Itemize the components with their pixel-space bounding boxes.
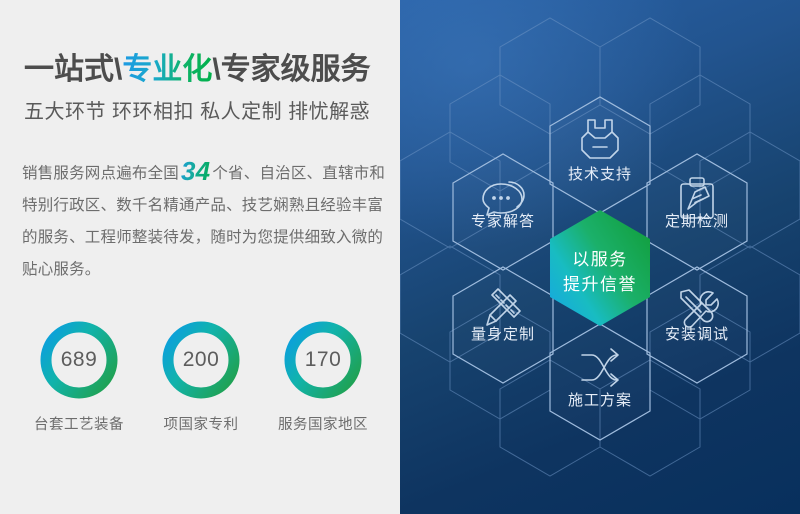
stat-item: 170 服务国家地区	[262, 318, 384, 434]
stat-label: 项国家专利	[164, 413, 239, 434]
paragraph-text-before: 销售服务网点遍布全国	[22, 165, 179, 182]
stats-row: 689 台套工艺装备	[18, 318, 388, 434]
center-text-line-2: 提升信誉	[563, 272, 637, 297]
headline-part-2: 专家级服务	[221, 53, 371, 86]
paragraph-highlight-number: 34	[179, 156, 212, 186]
stat-label: 台套工艺装备	[34, 413, 124, 434]
headline-highlight: 专业化	[122, 53, 212, 86]
stat-value: 200	[159, 318, 243, 402]
donut-ring: 170	[281, 318, 365, 402]
donut-ring: 200	[159, 318, 243, 402]
description-paragraph: 销售服务网点遍布全国34个省、自治区、直辖市和特别行政区、数千名精通产品、技艺娴…	[22, 155, 388, 286]
page-title: 一站式\专业化\专家级服务	[24, 55, 384, 85]
hexagon-label-technical-support[interactable]: 技术支持	[568, 163, 632, 184]
hexagon-label-regular-inspection[interactable]: 定期检测	[665, 210, 729, 231]
stat-value: 689	[37, 318, 121, 402]
headline-part-1: 一站式	[24, 53, 114, 86]
stat-value: 170	[281, 318, 365, 402]
hexagon-label-construction-plan[interactable]: 施工方案	[568, 389, 632, 410]
hexagon-diagram-panel: 技术支持 专家解答 定期检测 量身定制 安装调试 施工方案 以服务 提升信誉	[400, 0, 800, 514]
stat-item: 689 台套工艺装备	[18, 318, 140, 434]
headline-separator-2: \	[212, 53, 220, 86]
hexagon-label-custom-tailoring[interactable]: 量身定制	[471, 323, 535, 344]
page-subtitle: 五大环节 环环相扣 私人定制 排忧解惑	[24, 100, 394, 124]
hexagon-top[interactable]	[550, 97, 650, 213]
left-info-panel: 一站式\专业化\专家级服务 五大环节 环环相扣 私人定制 排忧解惑 销售服务网点…	[0, 0, 400, 514]
hexagon-bottom[interactable]	[550, 324, 650, 440]
center-text-line-1: 以服务	[563, 247, 637, 272]
stat-item: 200 项国家专利	[140, 318, 262, 434]
promo-banner: 一站式\专业化\专家级服务 五大环节 环环相扣 私人定制 排忧解惑 销售服务网点…	[0, 0, 800, 514]
hexagon-label-installation-debug[interactable]: 安装调试	[665, 323, 729, 344]
hexagon-label-expert-answers[interactable]: 专家解答	[471, 210, 535, 231]
stat-label: 服务国家地区	[278, 413, 368, 434]
hexagon-center-text: 以服务 提升信誉	[563, 247, 637, 297]
donut-ring: 689	[37, 318, 121, 402]
